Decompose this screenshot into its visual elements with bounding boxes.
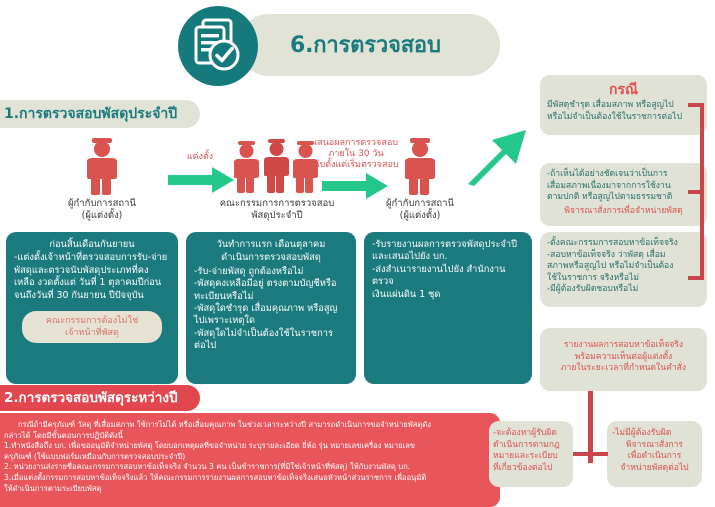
case-box-3-line-5: -มีผู้ต้องรับผิดชอบหรือไม่ xyxy=(547,284,700,296)
case-box-6-line-3: เพื่อดำเนินการ xyxy=(612,451,697,463)
case-box-5-line-1: -จะต้องหาผู้รับผิด xyxy=(493,428,569,440)
case-box-3-line-1: -ตั้งคณะกรรมการสอบหาข้อเท็จจริง xyxy=(547,238,700,250)
teal-box-2-head2: ดำเนินการตรวจสอบพัสดุ xyxy=(194,252,348,264)
case-box-5-line-2: ดำเนินการตามกฎ xyxy=(493,440,569,452)
arrow-right-icon-1 xyxy=(168,166,234,198)
document-check-icon xyxy=(178,6,258,86)
case-box-6: -ไม่มีผู้ต้องรับผิด พิจารณาสั่งการ เพื่อ… xyxy=(607,421,702,487)
teal-box-1-head: ก่อนสิ้นเดือนกันยายน xyxy=(14,239,170,251)
teal-box-1-line-2: พัสดุและตรวจนับพัสดุประเภทที่คง xyxy=(14,265,170,277)
actor-3-caption-line2: (ผู้แต่งตั้ง) xyxy=(360,210,480,222)
teal-box-2-line-5: ไปเพราะเหตุใด xyxy=(194,315,348,327)
section2-line-3: 1.ทำหนังสือถึง บก. เพื่อขออนุมัติจำหน่าย… xyxy=(4,441,490,452)
teal-box-3-line-2: และเสนอไปยัง บก. xyxy=(372,251,524,263)
teal-box-3-line-4: เงินแผ่นดิน 1 ชุด xyxy=(372,289,524,301)
connector-tick-box3 xyxy=(688,276,704,280)
teal-box-2-line-4: -พัสดุใดชำรุด เสื่อมคุณภาพ หรือสูญ xyxy=(194,303,348,315)
actor-1-caption-line1: ผู้กำกับการสถานี xyxy=(42,198,162,210)
case-box-1: กรณี มีพัสดุชำรุด เสื่อมสภาพ หรือสูญไป ห… xyxy=(540,75,707,135)
case-box-2-highlight: พิจารณาสั่งการเพื่อจำหน่ายพัสดุ xyxy=(547,206,700,218)
connector-tick-box2 xyxy=(688,190,704,194)
teal-box-2-line-7: ต่อไป xyxy=(194,340,348,352)
case-box-2-line-3: ตามปกติ หรือสูญไปตามธรรมชาติ xyxy=(547,192,700,204)
section2-paragraph-panel: กรณีถ้ามีครุภัณฑ์ วัสดุ ที่เสื่อมสภาพ ใช… xyxy=(0,413,500,507)
connector-tick-box1 xyxy=(688,103,704,107)
case-box-5-line-4: ที่เกี่ยวข้องต่อไป xyxy=(493,463,569,475)
actor-2-caption-line2: พัสดุประจำปี xyxy=(212,210,342,222)
teal-box-1-line-1: -แต่งตั้งเจ้าหน้าที่ตรวจสอบการรับ-จ่าย xyxy=(14,252,170,264)
teal-box-3-line-1: -รับรายงานผลการตรวจพัสดุประจำปี xyxy=(372,239,524,251)
teal-box-2-line-1: -รับ-จ่ายพัสดุ ถูกต้องหรือไม่ xyxy=(194,266,348,278)
case-box-4-line-3: ภายในระยะเวลาที่กำหนดในคำสั่ง xyxy=(547,363,700,375)
section2-line-4: ครุภัณฑ์ (ใช้แบบฟอร์มเหมือนกับการตรวจสอบ… xyxy=(4,452,490,463)
committee-note-pill: คณะกรรมการต้องไม่ใช่ เจ้าหน้าที่พัสดุ xyxy=(22,311,162,343)
case-box-1-line-1: มีพัสดุชำรุด เสื่อมสภาพ หรือสูญไป xyxy=(547,100,700,112)
case-box-3-line-2: -สอบหาข้อเท็จจริง ว่าพัสดุ เสื่อม xyxy=(547,250,700,262)
section2-line-1: กรณีถ้ามีครุภัณฑ์ วัสดุ ที่เสื่อมสภาพ ใช… xyxy=(4,420,490,431)
teal-box-1: ก่อนสิ้นเดือนกันยายน -แต่งตั้งเจ้าหน้าที… xyxy=(6,232,178,384)
section2-line-6: 3.เมื่อแต่งตั้งกรรมการสอบหาข้อเท็จจริงแล… xyxy=(4,473,490,484)
single-person-icon-2 xyxy=(396,137,444,199)
case-box-2: -ถ้าเห็นได้อย่างชัดเจนว่าเป็นการ เสื่อมส… xyxy=(540,163,707,226)
teal-box-3: -รับรายงานผลการตรวจพัสดุประจำปี และเสนอไ… xyxy=(364,232,532,384)
committee-note-line2: เจ้าหน้าที่พัสดุ xyxy=(26,327,158,339)
teal-box-2-line-2: -พัสดุคงเหลือมีอยู่ ตรงตามบัญชีหรือ xyxy=(194,278,348,290)
case-box-6-line-1: -ไม่มีผู้ต้องรับผิด xyxy=(612,428,697,440)
case-box-5: -จะต้องหาผู้รับผิด ดำเนินการตามกฎ หมายแล… xyxy=(489,421,573,487)
section2-line-2: กล่าวได้ โดยมีขั้นตอนการปฏิบัติดังนี้ xyxy=(4,431,490,442)
actor-3-caption-line1: ผู้กำกับการสถานี xyxy=(360,198,480,210)
teal-box-2: วันทำการแรก เดือนตุลาคม ดำเนินการตรวจสอบ… xyxy=(186,232,356,384)
flow-label-appoint: แต่งตั้ง xyxy=(168,152,232,163)
teal-box-2-line-3: ทะเบียนหรือไม่ xyxy=(194,291,348,303)
case-box-6-line-2: พิจารณาสั่งการ xyxy=(612,440,697,452)
case-box-6-line-4: จำหน่ายพัสดุต่อไป xyxy=(612,463,697,475)
actor-1-caption-line2: (ผู้แต่งตั้ง) xyxy=(42,210,162,222)
section2-line-7: ให้ดำเนินการตามระเบียบพัสดุ xyxy=(4,484,490,495)
committee-note-line1: คณะกรรมการต้องไม่ใช่ xyxy=(26,315,158,327)
teal-box-2-line-6: -พัสดุใดไม่จำเป็นต้องใช้ในราชการ xyxy=(194,328,348,340)
case-box-2-line-1: -ถ้าเห็นได้อย่างชัดเจนว่าเป็นการ xyxy=(547,169,700,181)
case-box-3-line-3: สภาพหรือสูญไป หรือไม่จำเป็นต้อง xyxy=(547,261,700,273)
page-title: 6.การตรวจสอบ xyxy=(290,28,500,64)
infographic-page: 6.การตรวจสอบ 1.การตรวจสอบพัสดุประจำปี ผู… xyxy=(0,0,715,507)
single-person-icon xyxy=(78,137,126,199)
case-box-4-line-1: รายงานผลการสอบหาข้อเท็จจริง xyxy=(547,340,700,352)
case-box-3: -ตั้งคณะกรรมการสอบหาข้อเท็จจริง -สอบหาข้… xyxy=(540,232,707,307)
case-title: กรณี xyxy=(547,81,700,99)
teal-box-1-line-3: เหลือ งวดตั้งแต่ วันที่ 1 ตุลาคมปีก่อน xyxy=(14,277,170,289)
case-box-4-line-2: พร้อมความเห็นต่อผู้แต่งตั้ง xyxy=(547,352,700,364)
section2-line-5: 2. หน่วยงานส่งรายชื่อคณะกรรมการสอบหาข้อเ… xyxy=(4,462,490,473)
case-box-5-line-3: หมายและระเบียบ xyxy=(493,451,569,463)
section2-label: 2.การตรวจสอบพัสดุระหว่างปี xyxy=(4,389,204,408)
teal-box-3-line-3: -ส่งสำเนารายงานไปยัง สำนักงานตรวจ xyxy=(372,264,524,289)
arrow-diagonal-up-right-icon xyxy=(466,128,532,194)
case-box-3-line-4: ใช้ในราชการ จริงหรือไม่ xyxy=(547,273,700,285)
teal-box-1-line-4: จนถึงวันที่ 30 กันยายน ปีปัจจุบัน xyxy=(14,290,170,302)
case-box-1-line-2: หรือไม่จำเป็นต้องใช้ในราชการต่อไป xyxy=(547,112,700,124)
connector-tick-box6 xyxy=(592,452,608,456)
case-box-4: รายงานผลการสอบหาข้อเท็จจริง พร้อมความเห็… xyxy=(540,328,707,391)
connector-tick-box5 xyxy=(573,452,589,456)
teal-box-2-head: วันทำการแรก เดือนตุลาคม xyxy=(194,239,348,251)
section1-label: 1.การตรวจสอบพัสดุประจำปี xyxy=(4,104,204,124)
case-box-2-line-2: เสื่อมสภาพเนื่องมาจากการใช้งาน xyxy=(547,181,700,193)
